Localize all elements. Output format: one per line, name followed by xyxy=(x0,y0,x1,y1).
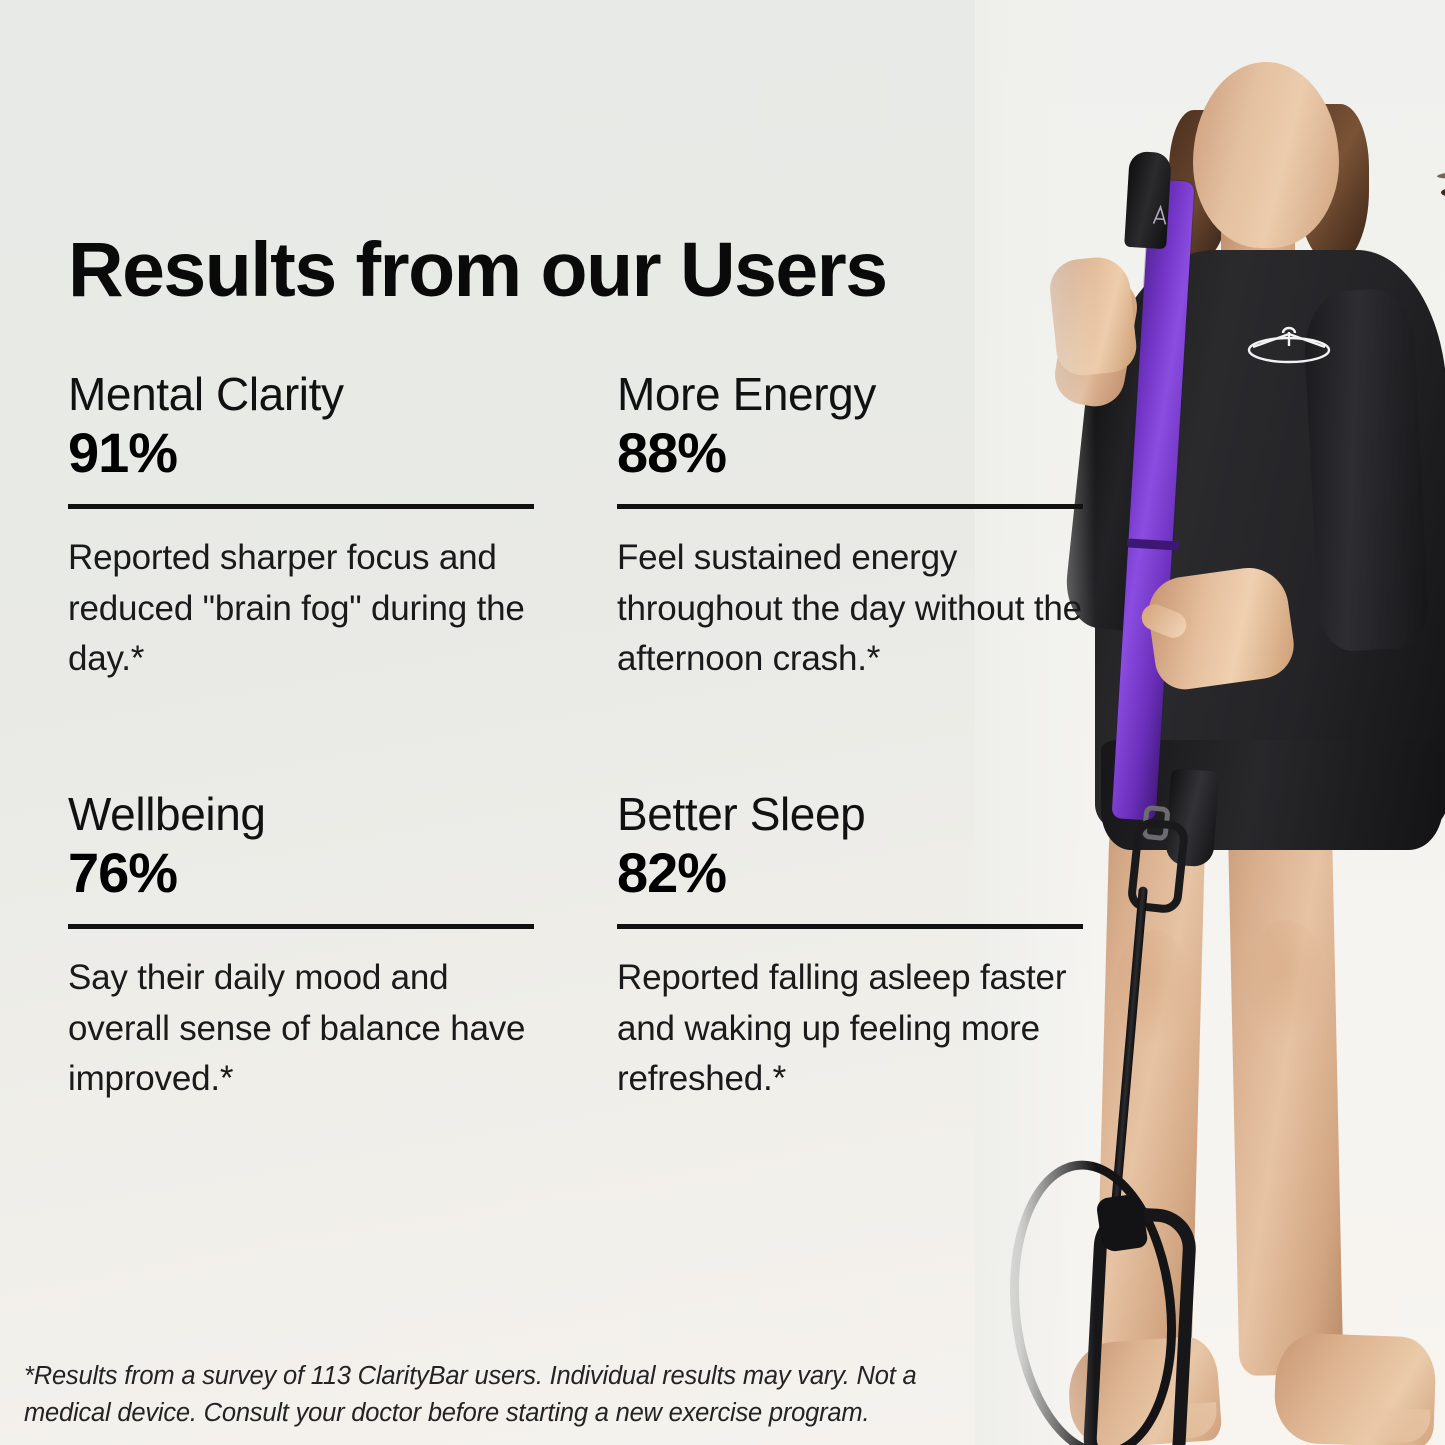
stat-description: Reported falling asleep faster and wakin… xyxy=(617,953,1083,1104)
content-layer: Results from our Users Mental Clarity 91… xyxy=(0,0,1445,1445)
stat-value: 91% xyxy=(68,422,534,485)
stat-card-mental-clarity: Mental Clarity 91% Reported sharper focu… xyxy=(68,370,534,685)
stat-label: Wellbeing xyxy=(68,790,534,840)
stat-description: Feel sustained energy throughout the day… xyxy=(617,533,1083,684)
stat-divider xyxy=(617,504,1083,509)
stat-value: 76% xyxy=(68,842,534,905)
stat-label: Better Sleep xyxy=(617,790,1083,840)
stat-divider xyxy=(68,504,534,509)
stat-label: More Energy xyxy=(617,370,1083,420)
page-title: Results from our Users xyxy=(68,226,887,315)
stat-label: Mental Clarity xyxy=(68,370,534,420)
stat-card-better-sleep: Better Sleep 82% Reported falling asleep… xyxy=(617,790,1083,1105)
marketing-infographic: Results from our Users Mental Clarity 91… xyxy=(0,0,1445,1445)
stat-value: 82% xyxy=(617,842,1083,905)
stat-description: Reported sharper focus and reduced "brai… xyxy=(68,533,534,684)
stat-divider xyxy=(617,924,1083,929)
stat-card-more-energy: More Energy 88% Feel sustained energy th… xyxy=(617,370,1083,685)
stat-description: Say their daily mood and overall sense o… xyxy=(68,953,534,1104)
stat-divider xyxy=(68,924,534,929)
disclaimer-footnote: *Results from a survey of 113 ClarityBar… xyxy=(24,1358,984,1432)
stat-value: 88% xyxy=(617,422,1083,485)
stat-card-wellbeing: Wellbeing 76% Say their daily mood and o… xyxy=(68,790,534,1105)
